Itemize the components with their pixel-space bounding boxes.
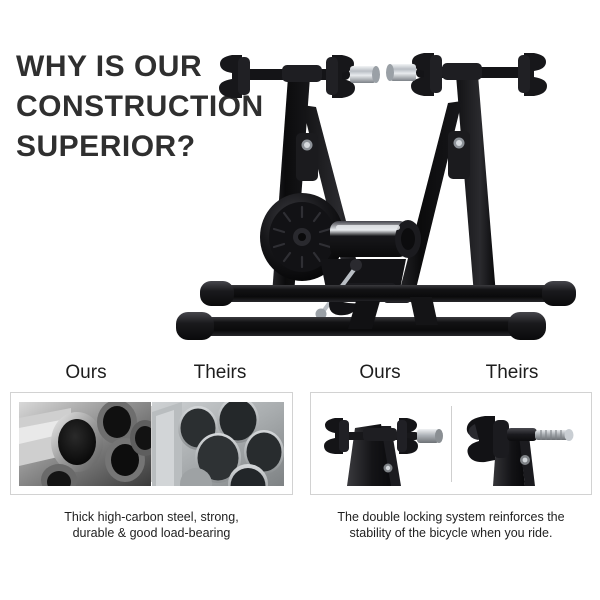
marketing-image: WHY IS OUR CONSTRUCTION SUPERIOR? [0,0,600,600]
caption-locking-line-1: The double locking system reinforces the [337,510,564,524]
label-ours-locking: Ours [320,362,440,384]
comparison-section: Ours Theirs [0,362,600,562]
product-photo-bike-trainer-stand [170,45,600,355]
photo-ours-thick-tubes [19,400,151,488]
caption-locking-line-2: stability of the bicycle when you ride. [350,526,553,540]
caption-locking: The double locking system reinforces the… [310,509,592,541]
comparison-panel-locking [310,392,592,495]
photo-theirs-thin-tubes [152,400,284,488]
caption-tubing-line-2: durable & good load-bearing [73,526,231,540]
label-ours-tubing: Ours [26,362,146,384]
caption-tubing: Thick high-carbon steel, strong, durable… [10,509,293,541]
comparison-group-locking: Ours Theirs [310,362,592,541]
label-theirs-locking: Theirs [452,362,572,384]
comparison-panel-tubing [10,392,293,495]
comparison-group-tubing: Ours Theirs [10,362,293,541]
caption-tubing-line-1: Thick high-carbon steel, strong, [64,510,238,524]
photo-ours-double-lock-clamp [319,400,451,488]
photo-theirs-single-knob-clamp [452,400,584,488]
label-theirs-tubing: Theirs [160,362,280,384]
comparison-labels-locking: Ours Theirs [310,362,592,392]
comparison-labels-tubing: Ours Theirs [10,362,293,392]
